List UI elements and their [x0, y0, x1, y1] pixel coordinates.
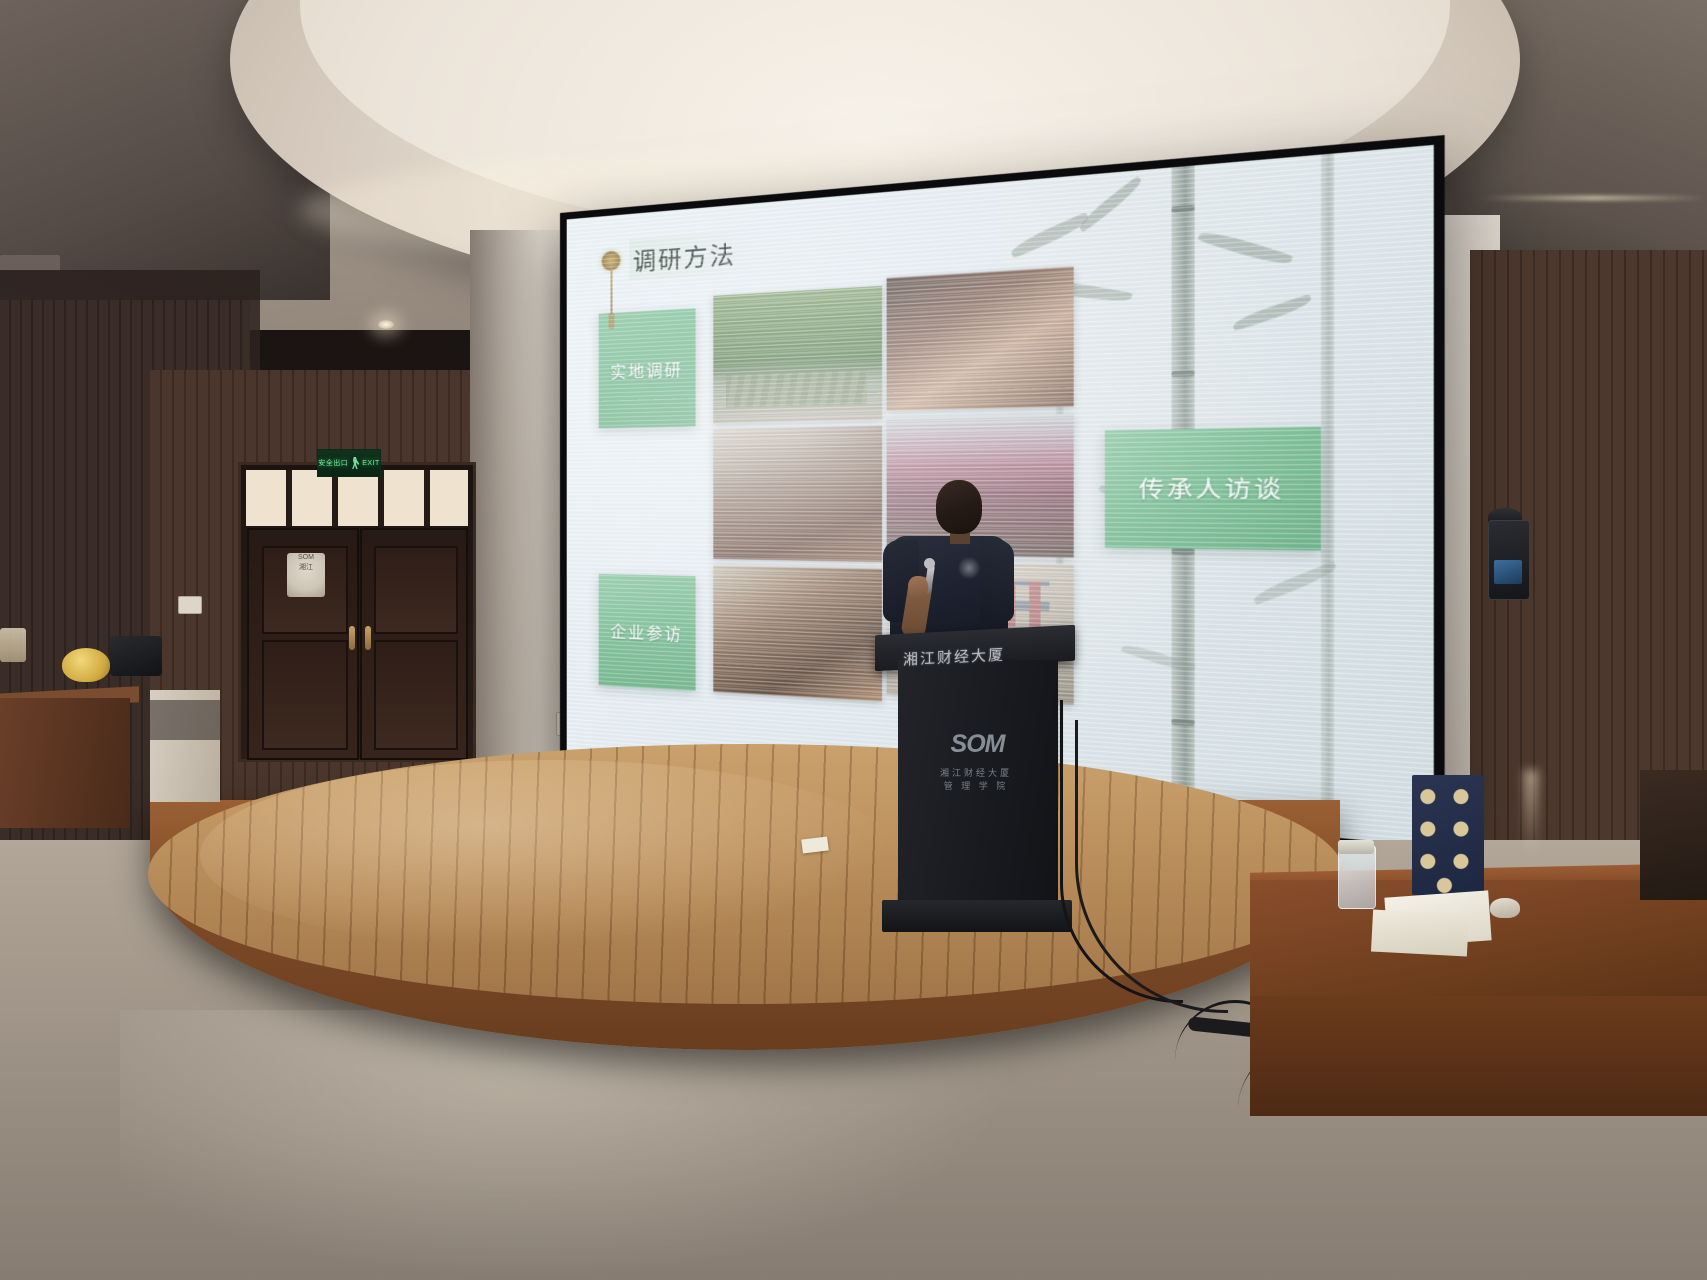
conference-hall-scene: SOM 湘江 安全出口 EXIT: [0, 0, 1707, 1280]
photo-craft-hands: [713, 565, 882, 702]
floor-reflection: [120, 1010, 1020, 1280]
microphone-head-icon: [924, 558, 935, 569]
computer-mouse[interactable]: [1490, 898, 1520, 918]
gift-bag[interactable]: [1412, 775, 1484, 895]
running-man-icon: [351, 457, 359, 469]
left-wall-lamp: [0, 628, 26, 662]
wall-socket[interactable]: [178, 596, 202, 614]
gift-bag-pattern: [1412, 775, 1484, 895]
door-handle[interactable]: [365, 626, 371, 650]
bamboo-stalk: [1321, 145, 1334, 846]
presenter-hand: [908, 576, 928, 598]
left-monitor[interactable]: [110, 636, 162, 676]
podium-som-logo: SOM: [930, 730, 1025, 766]
bamboo-leaf: [1198, 228, 1294, 269]
flower-arrangement: [62, 648, 110, 682]
green-box-inheritor-interview: 传承人访谈: [1105, 427, 1322, 550]
exit-sign-cn-label: 安全出口: [318, 458, 348, 468]
green-box-label: 企业参访: [610, 618, 683, 646]
shirt-graphic: [958, 556, 980, 580]
podium-sub-line-1: 湘江财经大厦: [920, 766, 1032, 779]
downlight-icon: [378, 320, 394, 329]
paper-document[interactable]: [1371, 910, 1469, 957]
slide-title: 调研方法: [629, 229, 764, 280]
presenter-shoulder-right: [980, 540, 1014, 622]
left-cabinet-shadow: [150, 700, 220, 740]
bamboo-leaf: [1076, 176, 1146, 233]
bamboo-leaf: [1009, 212, 1093, 258]
door-handle[interactable]: [349, 626, 355, 650]
exit-sign: 安全出口 EXIT: [317, 449, 381, 477]
right-wall-light-glow: [1524, 770, 1538, 856]
green-box-label: 实地调研: [610, 356, 683, 383]
ceiling-light-strip: [1480, 196, 1707, 200]
door-panel: [262, 640, 348, 750]
stage-highlight: [200, 760, 900, 950]
slide-title-group: 调研方法: [601, 229, 764, 282]
photo-group-outdoors: [713, 286, 882, 423]
right-table-lower: [1250, 996, 1707, 1116]
door-logo-line2: 湘江: [287, 563, 325, 573]
exit-sign-label: EXIT: [362, 460, 380, 467]
control-panel-screen[interactable]: [1494, 560, 1522, 584]
left-desk: [0, 698, 130, 828]
tassel-icon: [610, 260, 612, 313]
photo-interview-table: [713, 426, 882, 562]
podium-sub-line-2: 管 理 学 院: [920, 779, 1032, 792]
right-chair[interactable]: [1640, 770, 1707, 900]
water-bottle-cap: [1338, 840, 1374, 854]
presenter-head: [936, 480, 982, 534]
photo-craft-workshop: [887, 267, 1074, 412]
door-som-logo: SOM 湘江: [287, 553, 325, 597]
bamboo-leaf: [1231, 294, 1314, 331]
door-panel: [374, 640, 458, 750]
podium-base: [882, 900, 1072, 932]
water-bottle[interactable]: [1338, 845, 1376, 909]
bamboo-node: [1171, 370, 1194, 377]
door-logo-line1: SOM: [287, 553, 325, 563]
green-box-enterprise-visit: 企业参访: [598, 574, 695, 691]
door-transom-window: [246, 470, 468, 526]
door-panel: [374, 546, 458, 634]
bamboo-node: [1171, 548, 1194, 554]
green-box-label: 传承人访谈: [1139, 472, 1284, 505]
ceiling-air-vent: [0, 255, 60, 271]
